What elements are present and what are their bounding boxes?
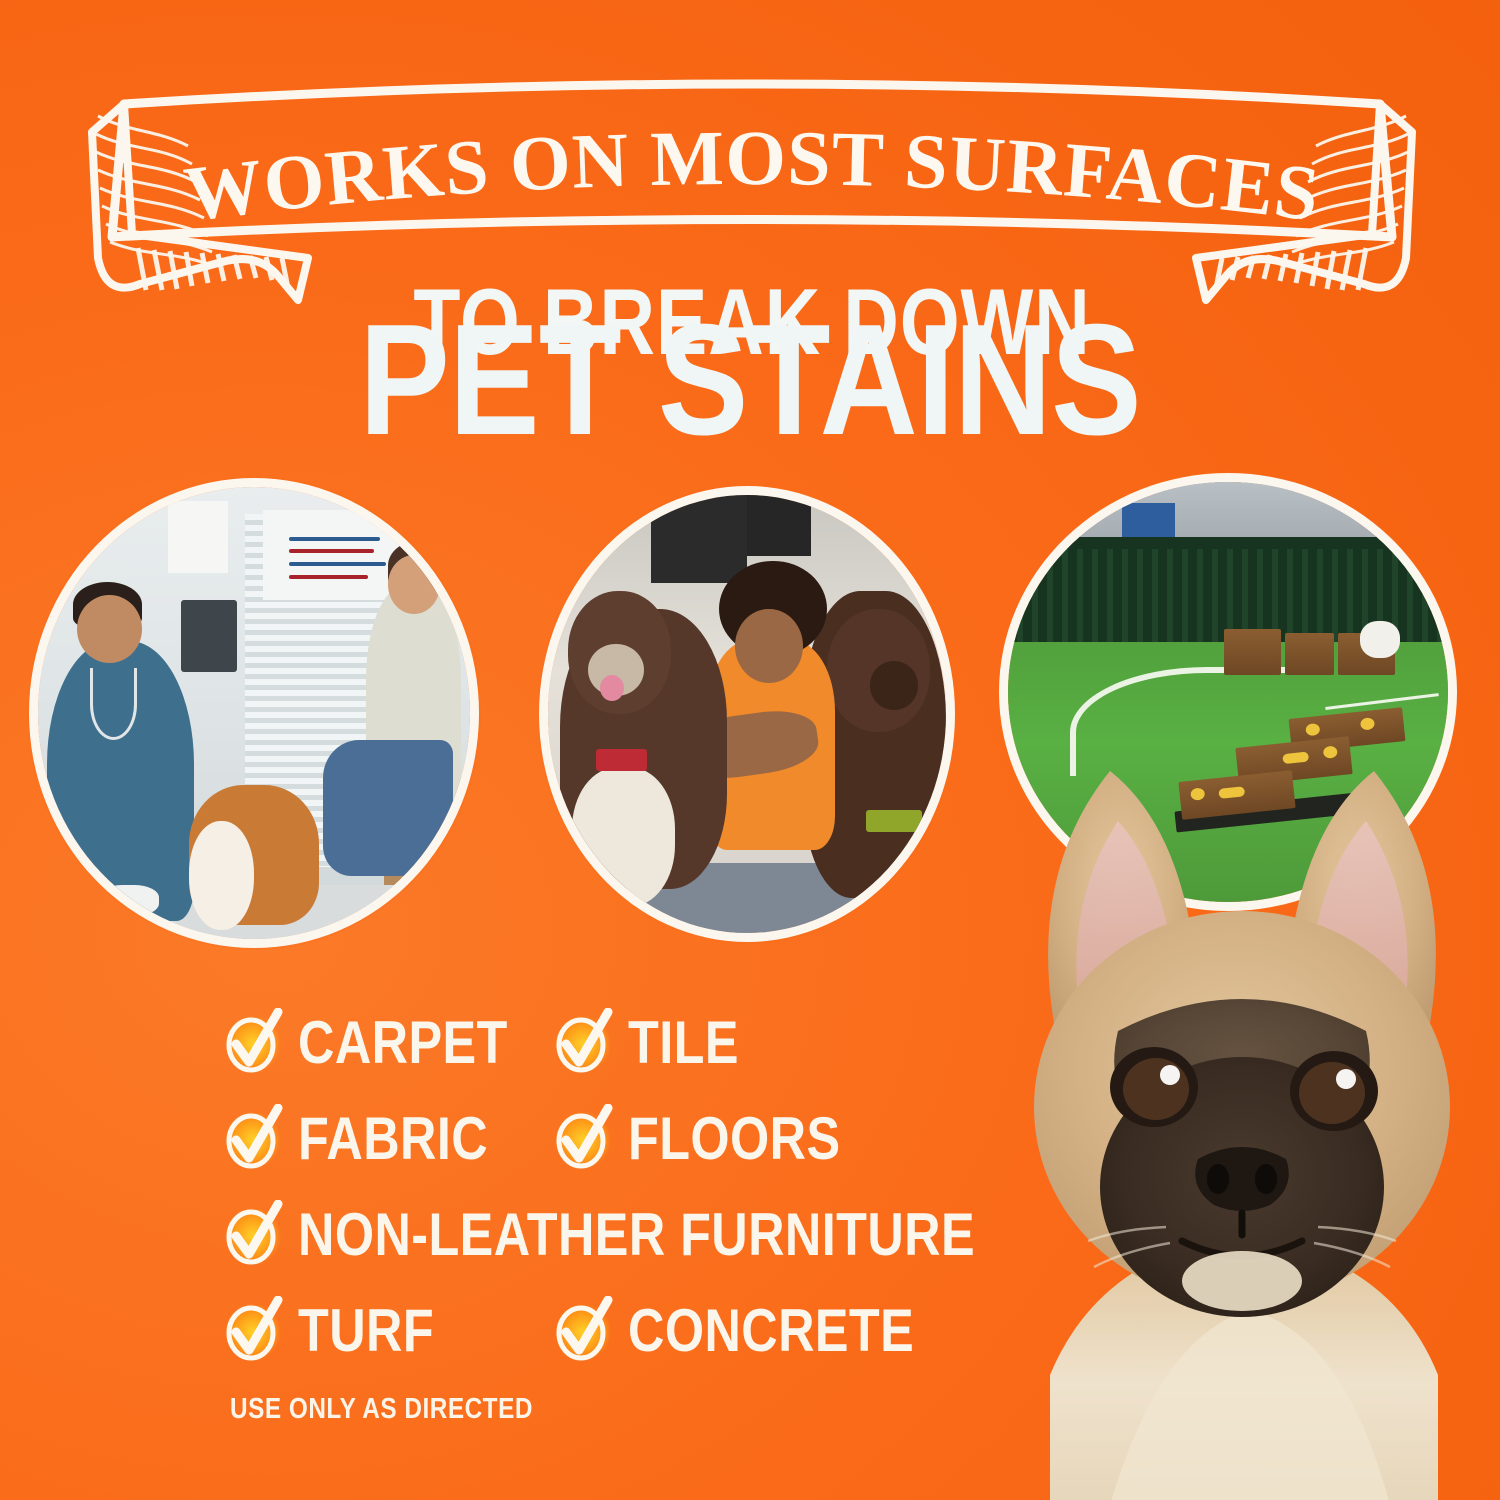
headline-line-3: PET STAINS (105, 300, 1395, 460)
french-bulldog-graphic (960, 735, 1500, 1500)
checklist-label: TILE (628, 1013, 739, 1073)
checklist-item-floors[interactable]: FLOORS (552, 1104, 881, 1174)
green-collar (866, 810, 922, 832)
brown-dog-right-snout (870, 661, 918, 709)
agility-obstacle-back-1 (1224, 629, 1281, 675)
checklist-label: FLOORS (628, 1109, 841, 1169)
bulldog-chin (1182, 1251, 1302, 1311)
checkmark-icon (222, 1008, 284, 1078)
checklist-label: CARPET (298, 1013, 508, 1073)
usage-disclaimer: USE ONLY AS DIRECTED (230, 1393, 533, 1426)
checklist-label: CONCRETE (628, 1301, 914, 1361)
checkmark-icon (222, 1104, 284, 1174)
checklist-item-tile[interactable]: TILE (552, 1008, 760, 1078)
checkmark-icon (222, 1200, 284, 1270)
dog-owner-jeans (323, 740, 453, 876)
checkmark-icon (552, 1296, 614, 1366)
computer-monitor (181, 600, 237, 672)
photo-boy-with-dogs (548, 495, 946, 933)
stethoscope-icon (90, 668, 138, 740)
corgi-chest (189, 821, 254, 929)
background-box (651, 495, 747, 583)
product-ad-panel: WORKS ON MOST SURFACES TO BREAK DOWN PET… (0, 0, 1500, 1500)
turf-marking-line (1325, 693, 1439, 710)
blue-signage (1122, 503, 1175, 537)
veterinarian-head (77, 595, 142, 663)
dog-tongue (600, 675, 624, 701)
checklist-label: TURF (298, 1301, 434, 1361)
checklist-item-fabric[interactable]: FABRIC (222, 1104, 552, 1174)
white-dog-distant (1360, 621, 1400, 659)
agility-obstacle-back-2 (1285, 633, 1333, 675)
checklist-label: FABRIC (298, 1109, 488, 1169)
checkmark-icon (552, 1008, 614, 1078)
wall-poster-small (168, 501, 228, 573)
checkmark-icon (552, 1104, 614, 1174)
photo-vet-clinic (38, 487, 470, 939)
veterinarian-shoe (98, 885, 158, 917)
headline-arc-text: WORKS ON MOST SURFACES (180, 114, 1325, 238)
red-collar (596, 749, 648, 771)
checklist-item-turf[interactable]: TURF (222, 1296, 552, 1366)
dog-owner-head (388, 555, 440, 614)
checkmark-icon (222, 1296, 284, 1366)
brown-white-dog-chest (572, 767, 675, 907)
boy-head (735, 609, 803, 683)
checklist-label: NON-LEATHER FURNITURE (298, 1205, 975, 1265)
ribbon-banner: WORKS ON MOST SURFACES TO BREAK DOWN (72, 62, 1432, 312)
checklist-item-carpet[interactable]: CARPET (222, 1008, 552, 1078)
french-bulldog-mascot (960, 735, 1500, 1500)
fence-rail (1008, 537, 1448, 550)
checklist-item-concrete[interactable]: CONCRETE (552, 1296, 969, 1366)
headline-arc-wrap: WORKS ON MOST SURFACES (72, 120, 1432, 230)
background-box-2 (747, 495, 811, 556)
